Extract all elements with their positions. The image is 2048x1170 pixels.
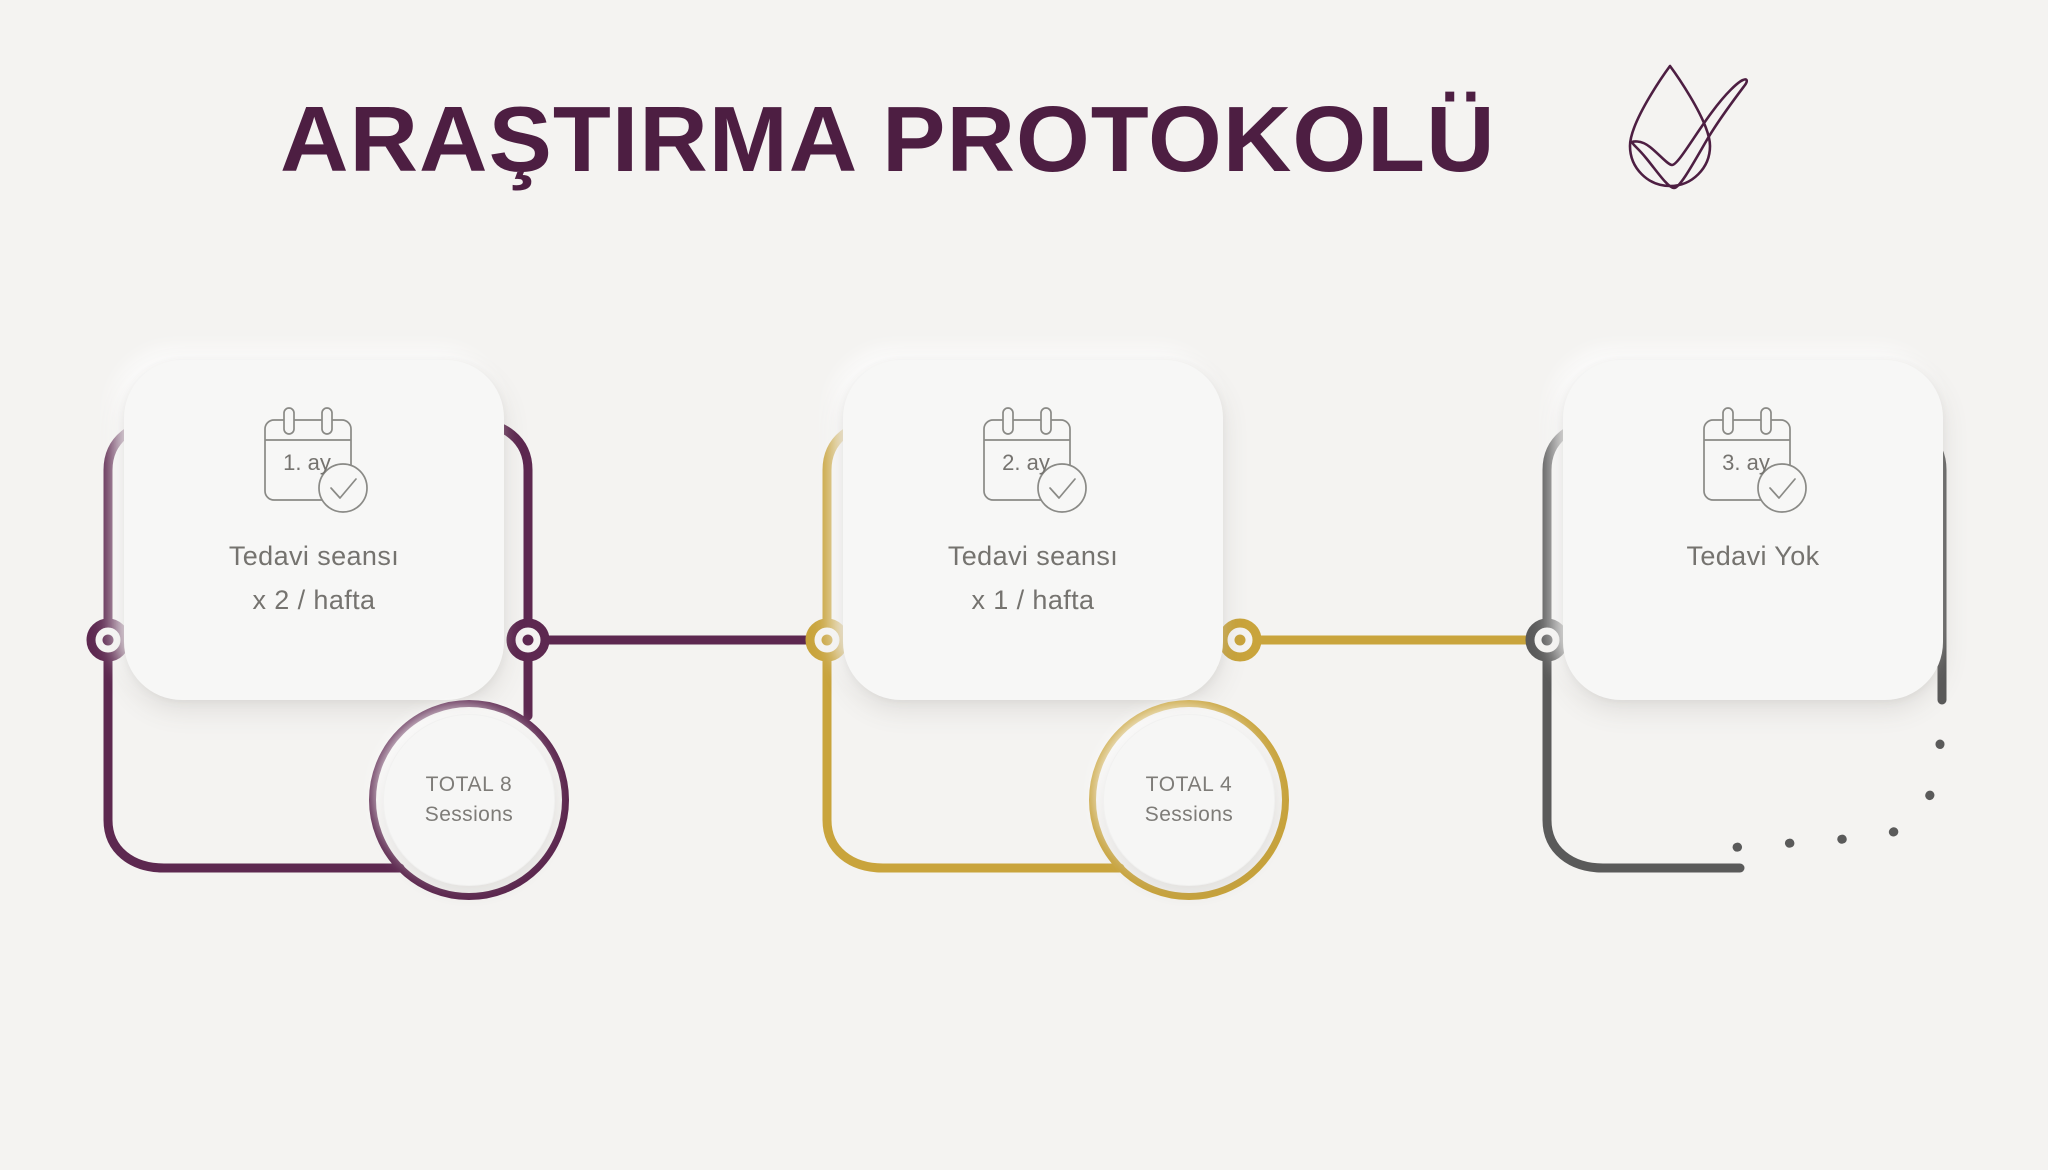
- stage-card-2-line-2: x 1 / hafta: [948, 578, 1118, 622]
- stage-card-3-line-1: Tedavi Yok: [1686, 534, 1819, 578]
- protocol-flow: 1. ay Tedavi seansı x 2 / hafta 2. ay Te…: [0, 0, 2048, 1170]
- card-month-label-1: 1. ay: [283, 450, 331, 475]
- total-badge-1[interactable]: TOTAL 8 Sessions: [383, 714, 555, 886]
- total-badge-2-unit: Sessions: [1145, 800, 1233, 830]
- card-month-label-2: 2. ay: [1002, 450, 1050, 475]
- total-badge-1-unit: Sessions: [425, 800, 513, 830]
- total-badge-2-count: TOTAL 4: [1146, 770, 1233, 800]
- stage-card-2-line-1: Tedavi seansı: [948, 534, 1118, 578]
- calendar-check-icon: 2. ay: [970, 404, 1096, 524]
- card-month-label-3: 3. ay: [1722, 450, 1770, 475]
- total-badge-1-count: TOTAL 8: [426, 770, 513, 800]
- calendar-check-icon: 1. ay: [251, 404, 377, 524]
- stage-card-1-line-1: Tedavi seansı: [229, 534, 399, 578]
- calendar-check-icon: 3. ay: [1690, 404, 1816, 524]
- stage-card-1[interactable]: 1. ay Tedavi seansı x 2 / hafta: [124, 360, 504, 700]
- stage-card-2-text: Tedavi seansı x 1 / hafta: [948, 534, 1118, 622]
- total-badge-2[interactable]: TOTAL 4 Sessions: [1103, 714, 1275, 886]
- stage-card-2[interactable]: 2. ay Tedavi seansı x 1 / hafta: [843, 360, 1223, 700]
- stage-card-3-text: Tedavi Yok: [1686, 534, 1819, 578]
- stage-card-1-text: Tedavi seansı x 2 / hafta: [229, 534, 399, 622]
- stage-card-1-line-2: x 2 / hafta: [229, 578, 399, 622]
- stage-card-3[interactable]: 3. ay Tedavi Yok: [1563, 360, 1943, 700]
